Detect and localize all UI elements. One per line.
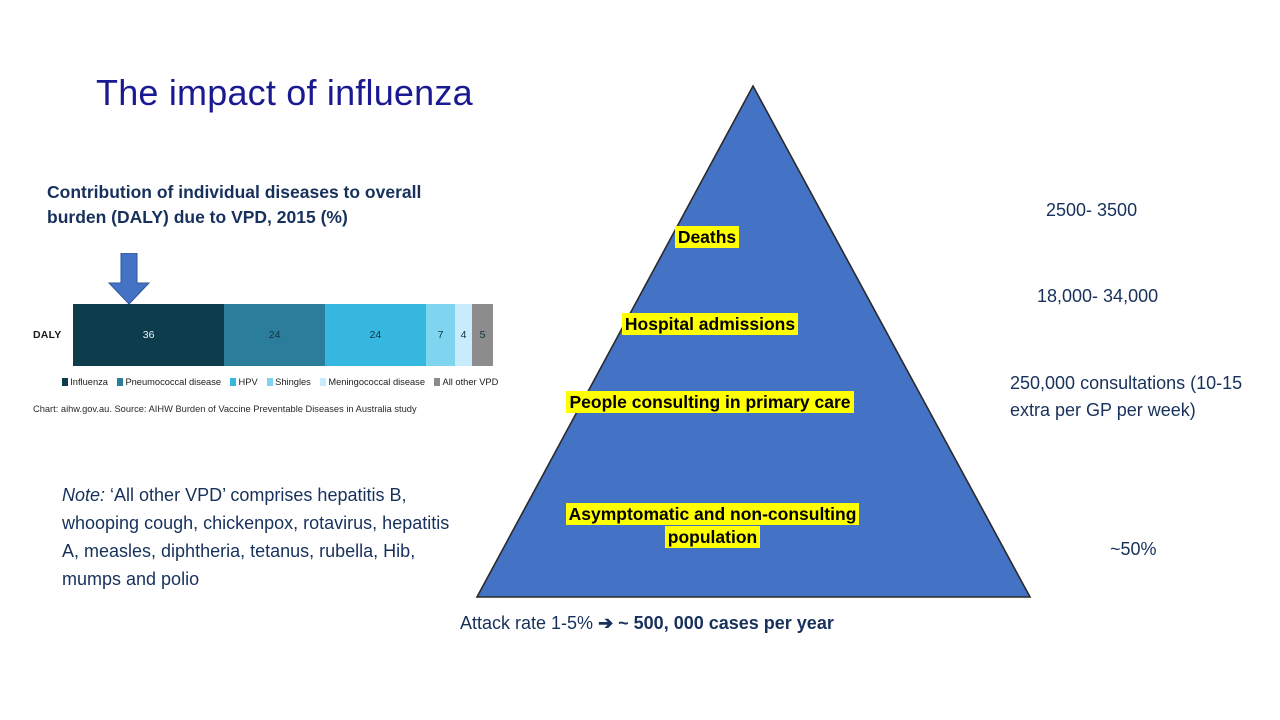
legend-swatch-icon: [117, 378, 123, 386]
legend-label: Shingles: [275, 377, 311, 387]
bar-segment-value: 24: [370, 329, 382, 341]
chart-row-label: DALY: [33, 304, 73, 366]
note-text: ‘All other VPD’ comprises hepatitis B, w…: [62, 485, 449, 589]
annotation-consultations: 250,000 consultations (10-15 extra per G…: [1010, 370, 1260, 424]
legend-item: Influenza: [62, 377, 108, 387]
pyramid-level-hospital-admissions: Hospital admissions: [565, 313, 855, 336]
pyramid-level-label: People consulting in primary care: [566, 391, 853, 413]
legend-swatch-icon: [267, 378, 273, 386]
bar-segment-shingles: 7: [426, 304, 455, 366]
chart-row: DALY 36 24 24 7 4 5: [33, 304, 493, 366]
attack-rate-caption: Attack rate 1-5% ➔ ~ 500, 000 cases per …: [460, 613, 834, 634]
legend-swatch-icon: [230, 378, 236, 386]
legend-swatch-icon: [320, 378, 326, 386]
bar-segment-value: 36: [143, 329, 155, 341]
legend-swatch-icon: [62, 378, 68, 386]
pyramid-level-deaths: Deaths: [627, 226, 787, 249]
legend-item: Pneumococcal disease: [117, 377, 221, 387]
legend-item: Shingles: [267, 377, 311, 387]
pyramid-level-label: Hospital admissions: [622, 313, 798, 335]
annotation-hospital-admissions: 18,000- 34,000: [1037, 283, 1158, 310]
legend-label: Meningococcal disease: [328, 377, 425, 387]
slide-canvas: The impact of influenza Contribution of …: [0, 0, 1280, 720]
chart-source-caption: Chart: aihw.gov.au. Source: AIHW Burden …: [33, 404, 493, 414]
legend-item: Meningococcal disease: [320, 377, 425, 387]
legend-item: HPV: [230, 377, 258, 387]
pyramid-level-asymptomatic: Asymptomatic and non-consulting populati…: [535, 503, 890, 549]
note-label: Note:: [62, 485, 105, 505]
bar-segment-value: 24: [269, 329, 281, 341]
arrow-down-icon: [108, 253, 150, 305]
legend-swatch-icon: [434, 378, 440, 386]
annotation-deaths: 2500- 3500: [1046, 197, 1137, 224]
legend-label: Pneumococcal disease: [125, 377, 221, 387]
attack-rate-prefix: Attack rate 1-5%: [460, 613, 598, 633]
impact-pyramid: Deaths Hospital admissions People consul…: [455, 78, 1055, 608]
annotation-asymptomatic: ~50%: [1110, 536, 1157, 563]
note-block: Note: ‘All other VPD’ comprises hepatiti…: [62, 482, 462, 594]
stacked-bar: 36 24 24 7 4 5: [73, 304, 493, 366]
pyramid-level-label: Deaths: [675, 226, 739, 248]
chart-legend: Influenza Pneumococcal disease HPV Shing…: [33, 377, 493, 387]
bar-segment-hpv: 24: [325, 304, 426, 366]
daly-stacked-bar-chart: DALY 36 24 24 7 4 5: [33, 304, 493, 414]
attack-rate-emphasis: ➔ ~ 500, 000 cases per year: [598, 613, 834, 633]
bar-segment-influenza: 36: [73, 304, 224, 366]
pyramid-level-label: Asymptomatic and non-consulting populati…: [566, 503, 860, 548]
page-title: The impact of influenza: [96, 72, 473, 114]
bar-segment-value: 7: [438, 329, 444, 341]
pyramid-level-primary-care: People consulting in primary care: [555, 391, 865, 414]
chart-heading: Contribution of individual diseases to o…: [47, 180, 477, 230]
bar-segment-pneumococcal-disease: 24: [224, 304, 325, 366]
legend-label: HPV: [239, 377, 258, 387]
legend-label: Influenza: [70, 377, 108, 387]
